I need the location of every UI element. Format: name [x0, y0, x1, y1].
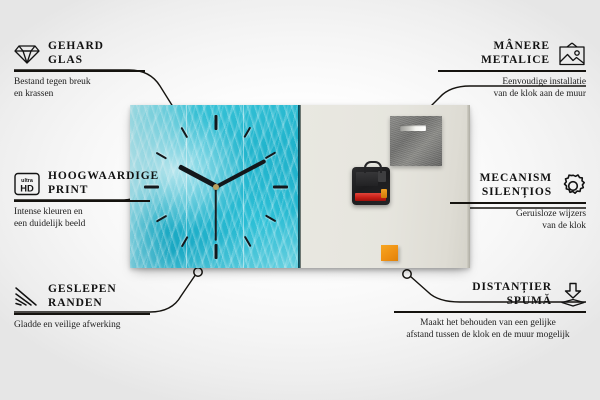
feature-divider [14, 200, 150, 201]
feature-header: DISTANȚIER SPUMĂ [390, 281, 586, 308]
feature-title-line1: MECANISM [480, 172, 552, 186]
clock-tick-11 [180, 126, 188, 138]
connector-endpoint-geslepen-randen [194, 268, 202, 276]
feature-desc-line1: Intense kleuren en [14, 206, 154, 219]
infographic-canvas: GEHARD GLAS Bestand tegen breuk en krass… [0, 0, 600, 400]
product-image [130, 105, 470, 268]
feature-desc-line1: Bestand tegen breuk [14, 76, 149, 89]
feature-header: MECANISM SILENȚIOS [446, 172, 586, 199]
feature-title-line2: PRINT [48, 184, 159, 198]
feature-divider [394, 311, 586, 312]
feature-title-line2: RANDEN [48, 297, 117, 311]
gear-icon [560, 173, 586, 199]
clock-tick-4 [264, 214, 276, 222]
feature-divider [14, 313, 150, 314]
feature-desc-line1: Gladde en veilige afwerking [14, 319, 154, 332]
feature-desc-line2: afstand tussen de klok en de muur mogeli… [390, 329, 586, 342]
clock-hour-hand [177, 165, 216, 189]
metal-hanger-plate [390, 116, 442, 166]
feature-geslepen-randen: GESLEPEN RANDEN Gladde en veilige afwerk… [14, 283, 154, 331]
feature-title-line1: HOOGWAARDIGE [48, 170, 159, 184]
mechanism-panel [356, 172, 378, 186]
ultra-hd-icon: ultra HD [14, 172, 40, 196]
clock-tick-7 [180, 235, 188, 247]
feature-title: GEHARD GLAS [48, 40, 104, 67]
feature-header: MÂNERE METALICE [434, 40, 586, 67]
clock-tick-8 [155, 214, 167, 222]
diamond-icon [14, 43, 40, 65]
feature-title-line1: DISTANȚIER [472, 281, 552, 295]
feature-title: MÂNERE METALICE [481, 40, 550, 67]
feature-divider [450, 202, 586, 203]
feature-title-line2: METALICE [481, 54, 550, 68]
feature-title-line1: GESLEPEN [48, 283, 117, 297]
feature-desc-line2: van de klok aan de muur [434, 88, 586, 101]
feature-desc-line1: Maakt het behouden van een gelijke [390, 317, 586, 330]
clock-tick-10 [155, 151, 167, 159]
clock-tick-1 [243, 126, 251, 138]
feature-title: MECANISM SILENȚIOS [480, 172, 552, 199]
foam-spacer [381, 245, 398, 261]
feature-distantier-spuma: DISTANȚIER SPUMĂ Maakt het behouden van … [390, 281, 586, 342]
feature-title-line2: GLAS [48, 54, 104, 68]
feature-desc-line2: een duidelijk beeld [14, 218, 154, 231]
wall-hanging-frame-icon [558, 42, 586, 66]
feature-header: GEHARD GLAS [14, 40, 149, 67]
svg-text:HD: HD [20, 182, 34, 193]
clock-tick-3 [273, 185, 288, 188]
clock-tick-2 [264, 151, 276, 159]
feature-header: ultra HD HOOGWAARDIGE PRINT [14, 170, 154, 197]
feature-desc-line1: Eenvoudige installatie [434, 76, 586, 89]
feature-title: DISTANȚIER SPUMĂ [472, 281, 552, 308]
feature-title: GESLEPEN RANDEN [48, 283, 117, 310]
hanger-slot [400, 125, 426, 131]
clock-tick-6 [214, 244, 217, 259]
battery-terminal [381, 189, 387, 198]
connector-endpoint-distantier-spuma [403, 270, 411, 278]
feature-title-line1: GEHARD [48, 40, 104, 54]
feature-divider [14, 70, 145, 71]
clock-back-panel [301, 105, 470, 268]
feature-desc-line2: van de klok [446, 220, 586, 233]
spacer-down-arrow-icon [560, 282, 586, 308]
feature-header: GESLEPEN RANDEN [14, 283, 154, 310]
feature-mecanism-silentios: MECANISM SILENȚIOS Geruisloze wijzers va… [446, 172, 586, 233]
mechanism-shaft [364, 161, 382, 173]
feature-hoogwaardige-print: ultra HD HOOGWAARDIGE PRINT Intense kleu… [14, 170, 154, 231]
feature-divider [438, 70, 586, 71]
feature-title-line2: SILENȚIOS [482, 186, 552, 200]
feature-desc-line1: Geruisloze wijzers [446, 208, 586, 221]
feature-title-line2: SPUMĂ [507, 295, 552, 309]
feature-title-line1: MÂNERE [493, 40, 550, 54]
clock-tick-12 [214, 115, 217, 130]
feature-manere-metalice: MÂNERE METALICE Eenvoudige installatie v… [434, 40, 586, 101]
aa-battery [355, 193, 386, 201]
feature-title: HOOGWAARDIGE PRINT [48, 170, 159, 197]
feature-desc-line2: en krassen [14, 88, 149, 101]
feature-gehard-glas: GEHARD GLAS Bestand tegen breuk en krass… [14, 40, 149, 101]
clock-tick-5 [243, 235, 251, 247]
clock-minute-hand [215, 159, 266, 188]
beveled-edges-icon [14, 286, 40, 308]
clock-center-cap [213, 184, 219, 190]
clock-second-hand [215, 187, 217, 241]
